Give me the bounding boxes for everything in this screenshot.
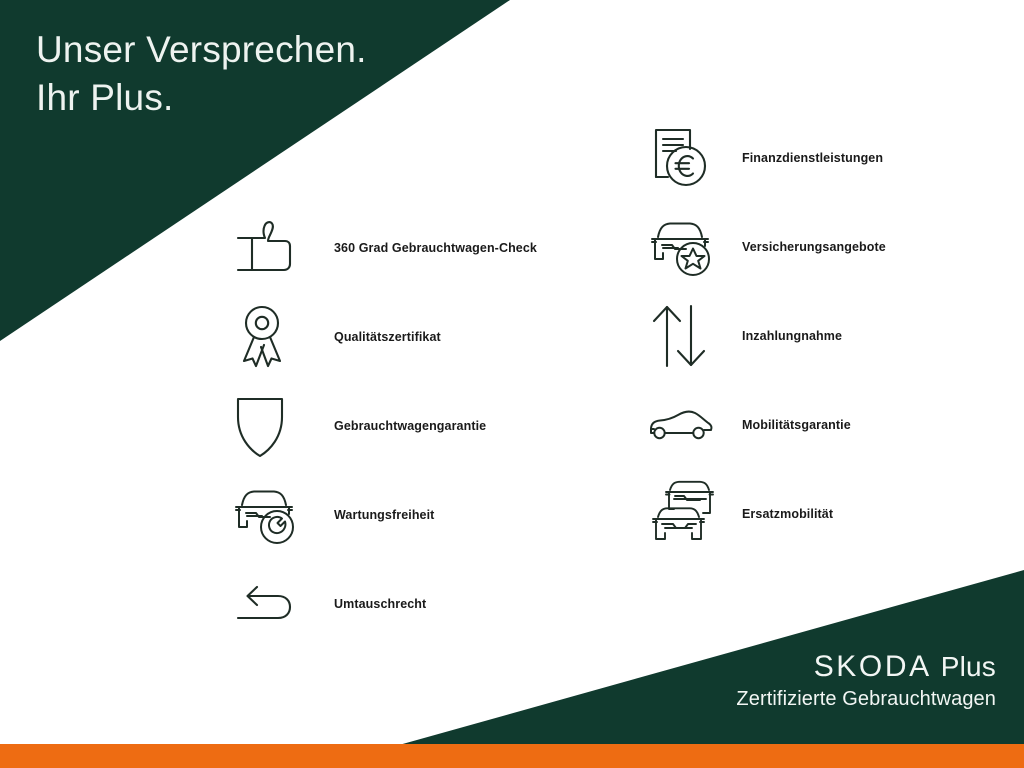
feature-label: Qualitätszertifikat [334,330,441,344]
brand-name: SKODA [814,652,932,682]
car-wrench-icon [232,479,304,551]
feature-item-gebrauchtwagen-check: 360 Grad Gebrauchtwagen-Check [232,203,582,292]
quality-rosette-icon [232,301,304,373]
feature-item-inzahlungnahme: Inzahlungnahme [648,291,988,380]
feature-label: Ersatzmobilität [742,507,833,521]
feature-item-finanzdienstleistungen: Finanzdienstleistungen [648,113,988,202]
feature-label: Versicherungsangebote [742,240,886,254]
feature-label: Umtauschrecht [334,597,426,611]
u-turn-arrow-icon [232,568,304,640]
thumbs-up-icon [232,212,304,284]
feature-label: Wartungsfreiheit [334,508,434,522]
page-title: Unser Versprechen. Ihr Plus. [36,26,367,122]
feature-item-mobilitaetsgarantie: Mobilitätsgarantie [648,380,988,469]
feature-item-qualitaetszertifikat: Qualitätszertifikat [232,292,582,381]
page-title-line-1: Unser Versprechen. [36,26,367,74]
feature-label: Inzahlungnahme [742,329,842,343]
sedan-car-icon [648,389,720,461]
feature-label: Gebrauchtwagengarantie [334,419,486,433]
feature-label: Finanzdienstleistungen [742,151,883,165]
two-cars-icon [648,478,720,550]
feature-list-left: 360 Grad Gebrauchtwagen-Check Qualitätsz… [232,203,582,648]
page-title-line-2: Ihr Plus. [36,74,367,122]
feature-item-ersatzmobilitaet: Ersatzmobilität [648,469,988,558]
brand-logo: SKODA Plus Zertifizierte Gebrauchtwagen [736,652,996,709]
feature-item-gebrauchtwagengarantie: Gebrauchtwagengarantie [232,381,582,470]
brand-logo-wordmark: SKODA Plus [736,652,996,682]
shield-icon [232,390,304,462]
brand-suffix: Plus [941,653,996,681]
feature-label: 360 Grad Gebrauchtwagen-Check [334,241,537,255]
orange-bottom-bar [0,744,1024,768]
car-star-icon [648,211,720,283]
feature-item-wartungsfreiheit: Wartungsfreiheit [232,470,582,559]
feature-list-right: Finanzdienstleistungen Versicherungsange… [648,113,988,558]
feature-item-umtauschrecht: Umtauschrecht [232,559,582,648]
feature-item-versicherungsangebote: Versicherungsangebote [648,202,988,291]
brand-tagline: Zertifizierte Gebrauchtwagen [736,689,996,709]
promo-banner: Unser Versprechen. Ihr Plus. 360 Grad Ge… [0,0,1024,768]
feature-label: Mobilitätsgarantie [742,418,851,432]
document-euro-icon [648,122,720,194]
up-down-arrows-icon [648,300,720,372]
